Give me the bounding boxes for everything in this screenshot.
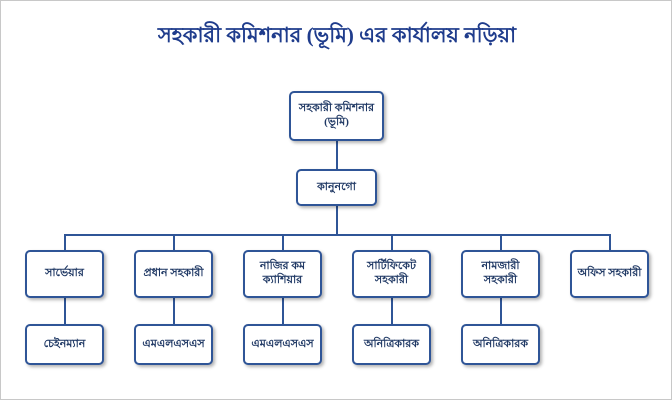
org-chart-page: সহকারী কমিশনার (ভূমি) এর কার্যালয় নড়িয… bbox=[0, 0, 672, 400]
node-certificate-sohokari[interactable]: সার্টিফিকেট সহকারী bbox=[352, 250, 431, 298]
node-mlss-2[interactable]: এমএলএসএস bbox=[243, 324, 322, 365]
node-namjari-sohokari-label: নামজারী সহকারী bbox=[466, 260, 535, 288]
connector-certificate-to-onitrikarok-1 bbox=[391, 298, 393, 324]
node-mlss-2-label: এমএলএসএস bbox=[248, 338, 317, 352]
node-kanungo-label: কানুনগো bbox=[301, 181, 372, 195]
node-root-label: সহকারী কমিশনার (ভূমি) bbox=[294, 102, 379, 130]
page-title: সহকারী কমিশনার (ভূমি) এর কার্যালয় নড়িয… bbox=[1, 19, 672, 54]
connector-bus-to-office-sohokari bbox=[609, 234, 611, 250]
node-kanungo[interactable]: কানুনগো bbox=[296, 169, 377, 206]
node-chainman-label: চেইনম্যান bbox=[30, 338, 99, 352]
node-mlss-1[interactable]: এমএলএসএস bbox=[134, 324, 213, 365]
page-title-main: সহকারী কমিশনার (ভূমি) এর কার্যালয় bbox=[158, 23, 459, 47]
node-nazir-cum-cashier[interactable]: নাজির কম ক্যাশিয়ার bbox=[243, 250, 322, 298]
connector-level2-bus bbox=[64, 234, 609, 236]
node-nazir-cum-cashier-label: নাজির কম ক্যাশিয়ার bbox=[248, 260, 317, 288]
node-prodhan-sohokari[interactable]: প্রধান সহকারী bbox=[134, 250, 213, 298]
connector-surveyor-to-chainman bbox=[64, 298, 66, 324]
node-chainman[interactable]: চেইনম্যান bbox=[25, 324, 104, 365]
connector-namjari-to-onitrikarok-2 bbox=[500, 298, 502, 324]
connector-bus-to-nazir-cum-cashier bbox=[282, 234, 284, 250]
connector-prodhan-to-mlss-1 bbox=[173, 298, 175, 324]
connector-kanungo-down bbox=[336, 206, 338, 234]
node-office-sohokari[interactable]: অফিস সহকারী bbox=[570, 250, 649, 298]
node-onitrikarok-1-label: অনিত্রিকারক bbox=[357, 338, 426, 352]
connector-bus-to-certificate-sohokari bbox=[391, 234, 393, 250]
node-onitrikarok-1[interactable]: অনিত্রিকারক bbox=[352, 324, 431, 365]
node-surveyor[interactable]: সার্ভেয়ার bbox=[25, 250, 104, 298]
connector-bus-to-surveyor bbox=[64, 234, 66, 250]
node-office-sohokari-label: অফিস সহকারী bbox=[575, 267, 644, 281]
node-root[interactable]: সহকারী কমিশনার (ভূমি) bbox=[289, 91, 384, 141]
node-onitrikarok-2[interactable]: অনিত্রিকারক bbox=[461, 324, 540, 365]
connector-root-to-kanungo bbox=[336, 141, 338, 169]
node-certificate-sohokari-label: সার্টিফিকেট সহকারী bbox=[357, 260, 426, 288]
node-namjari-sohokari[interactable]: নামজারী সহকারী bbox=[461, 250, 540, 298]
node-mlss-1-label: এমএলএসএস bbox=[139, 338, 208, 352]
node-surveyor-label: সার্ভেয়ার bbox=[30, 267, 99, 281]
connector-bus-to-namjari-sohokari bbox=[500, 234, 502, 250]
node-prodhan-sohokari-label: প্রধান সহকারী bbox=[139, 267, 208, 281]
connector-bus-to-prodhan-sohokari bbox=[173, 234, 175, 250]
connector-nazir-to-mlss-2 bbox=[282, 298, 284, 324]
node-onitrikarok-2-label: অনিত্রিকারক bbox=[466, 338, 535, 352]
page-title-suffix: নড়িয়া bbox=[459, 23, 516, 47]
